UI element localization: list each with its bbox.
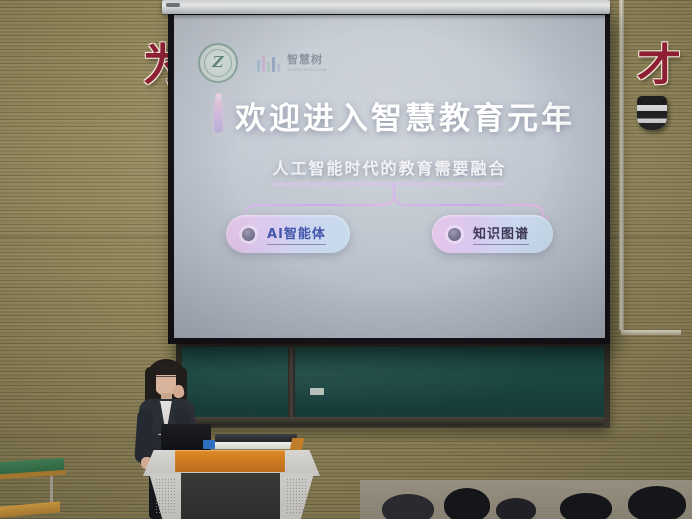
bullet-dot-icon xyxy=(242,228,255,241)
lecture-hall-scene: 为 才 Z xyxy=(0,0,692,519)
audience-head xyxy=(382,494,434,519)
wall-character-right: 才 xyxy=(637,44,681,88)
green-chalkboard xyxy=(176,342,610,428)
projector-screen: Z 智慧树 ZHIHUISHU.COM xyxy=(174,15,605,338)
slide-subtitle-wrap: 人工智能时代的教育需要融合 xyxy=(174,155,605,185)
seal-mark: Z xyxy=(213,53,224,71)
university-seal-icon: Z xyxy=(198,43,238,83)
chalkboard-surface xyxy=(182,347,604,417)
podium-speaker-grille-left xyxy=(155,478,177,514)
chalk-tray xyxy=(182,417,604,426)
wall-rail xyxy=(621,330,681,335)
projector-screen-roller xyxy=(162,0,610,14)
brand-name-cn: 智慧树 xyxy=(287,55,327,66)
slide-brand-header: Z 智慧树 ZHIHUISHU.COM xyxy=(198,43,327,83)
podium-keyboard-strip xyxy=(215,434,297,442)
audience-head xyxy=(444,488,490,519)
brand-name-en: ZHIHUISHU.COM xyxy=(287,68,327,72)
podium-wood-panel xyxy=(175,450,285,472)
projector-screen-frame: Z 智慧树 ZHIHUISHU.COM xyxy=(168,10,610,344)
podium-blue-item xyxy=(203,440,215,449)
presenter-glasses xyxy=(155,376,177,383)
bullet-dot-icon xyxy=(448,228,461,241)
card-ai-agent[interactable]: AI智能体 xyxy=(226,215,350,253)
chalkboard-clip xyxy=(310,388,324,395)
podium-wood-edge xyxy=(290,438,305,450)
wall-conduit-pipe xyxy=(619,0,624,330)
audience-head xyxy=(628,486,686,519)
slide-title: 欢迎进入智慧教育元年 xyxy=(235,93,575,138)
brand-lockup: 智慧树 ZHIHUISHU.COM xyxy=(252,54,327,72)
lecture-podium xyxy=(143,440,320,519)
bar-chart-icon xyxy=(252,54,280,72)
card-knowledge-graph[interactable]: 知识图谱 xyxy=(432,215,553,253)
wall-seam xyxy=(0,436,692,438)
desk-lower-shelf xyxy=(0,501,60,517)
chalkboard-divider xyxy=(288,347,295,417)
podium-papers xyxy=(213,442,299,449)
slide-title-row: 欢迎进入智慧教育元年 xyxy=(214,93,585,138)
audience-head xyxy=(560,493,612,519)
side-desk xyxy=(0,460,72,519)
podium-center-panel xyxy=(181,473,280,519)
brand-text: 智慧树 ZHIHUISHU.COM xyxy=(287,55,327,72)
card-label: AI智能体 xyxy=(267,223,326,245)
podium-speaker-grille-right xyxy=(286,478,308,514)
slide-cards: AI智能体 知识图谱 xyxy=(174,215,605,253)
audience-head xyxy=(496,498,536,519)
roller-knob xyxy=(166,3,180,7)
standing-person-icon xyxy=(214,99,223,133)
slide-subtitle: 人工智能时代的教育需要融合 xyxy=(272,155,506,185)
card-label: 知识图谱 xyxy=(473,223,529,245)
wall-speaker xyxy=(637,96,667,130)
